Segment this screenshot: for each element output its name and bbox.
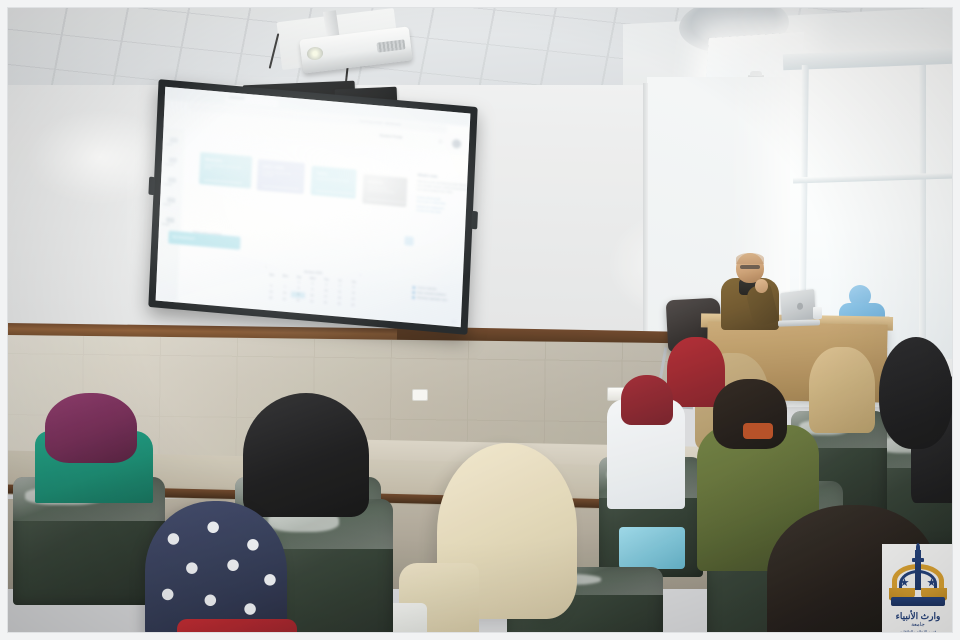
calendar-widget[interactable]: ‹ January 2025 › Sun Mon Tue Wed Thu Fri…	[264, 266, 361, 309]
chevron-right-icon[interactable]: ›	[360, 275, 361, 279]
list-item-label: Workshop registration open	[417, 296, 448, 302]
calendar-day[interactable]: 20	[264, 294, 278, 301]
sidebar-item-label: Home	[166, 143, 173, 147]
audience-notebook	[619, 527, 685, 569]
lecture-hall-photo: Dashboard learning.portal / dashboard St…	[0, 0, 960, 640]
power-outlet	[412, 389, 428, 401]
tile-subtext: Attendance and performance summary	[368, 185, 402, 196]
dashboard-tile[interactable]: Welcome Spring Semester overview and ale…	[199, 152, 252, 189]
screen-version-note: v2.1	[451, 319, 457, 323]
calendar-day[interactable]: 25	[332, 300, 346, 307]
sidebar-item-icon[interactable]	[169, 157, 177, 163]
apple-logo-icon	[797, 302, 803, 310]
sidebar-item-icon[interactable]	[170, 137, 178, 143]
interactive-whiteboard[interactable]: Dashboard learning.portal / dashboard St…	[148, 79, 477, 335]
sidebar-item-label: Library	[163, 203, 171, 207]
panel-paragraph: Welcome to the new learning portal. Brow…	[417, 180, 471, 198]
audience-red-top	[177, 619, 297, 633]
chevron-left-icon[interactable]: ‹	[265, 266, 266, 270]
side-info-panel: What's new Welcome to the new learning p…	[411, 173, 470, 322]
sidebar-item-icon[interactable]	[167, 197, 175, 203]
audience-collar	[743, 423, 773, 439]
presenter	[719, 253, 781, 329]
university-logo-badge: وارث الأنبياء جامعة قسم الإعلام والعلاقا…	[882, 544, 954, 636]
dashboard-tile[interactable]: Tasks Assignments due this week	[311, 166, 357, 199]
bullet-icon	[412, 291, 415, 294]
audience-black-abaya	[879, 337, 953, 449]
audience-tan-hijab	[809, 347, 875, 433]
calendar-day[interactable]: 21	[277, 296, 291, 303]
paper-cup	[813, 307, 822, 319]
calendar-month-label: January 2025	[304, 269, 322, 275]
sidebar-nav-rail	[156, 128, 186, 303]
logo-university-word: جامعة	[882, 622, 954, 628]
window-mullion-vertical	[919, 65, 926, 361]
calendar-day[interactable]: 23	[305, 298, 319, 305]
calendar-day[interactable]: 26	[346, 302, 360, 309]
bullet-icon	[412, 286, 415, 289]
projected-screen[interactable]: Dashboard learning.portal / dashboard St…	[156, 87, 471, 327]
audience-maroon-hijab	[621, 375, 673, 425]
sidebar-item-icon[interactable]	[168, 177, 176, 183]
sidebar-item-label: Profile	[162, 223, 169, 227]
bullet-icon	[412, 296, 415, 299]
dashboard-tile[interactable]: 2024 / 2025 Academic calendar and timeta…	[257, 159, 305, 194]
logo-department: قسم الإعلام والعلاقات	[882, 629, 954, 634]
list-item-label: Course materials	[417, 286, 436, 291]
audience-black-hijab-left	[243, 393, 369, 517]
calendar-day[interactable]: 24	[318, 299, 332, 306]
sidebar-item-label: Grades	[164, 183, 173, 187]
university-emblem	[887, 548, 949, 612]
bell-icon[interactable]: ☼	[437, 139, 443, 145]
logo-university-name: وارث الأنبياء	[882, 612, 954, 621]
room-scene: Dashboard learning.portal / dashboard St…	[7, 7, 953, 633]
calendar-day[interactable]: 22	[291, 297, 305, 304]
dashboard-tile[interactable]: Reports Attendance and performance summa…	[362, 174, 407, 207]
tile-subtext: Academic calendar and timetable	[262, 170, 299, 181]
sidebar-item-icon[interactable]	[166, 217, 174, 223]
audience-purple-hijab	[45, 393, 137, 463]
tile-subtext: Spring Semester overview and alerts	[205, 163, 247, 174]
quote-mark-icon	[404, 236, 413, 246]
audience-floral-hijab	[145, 501, 287, 633]
